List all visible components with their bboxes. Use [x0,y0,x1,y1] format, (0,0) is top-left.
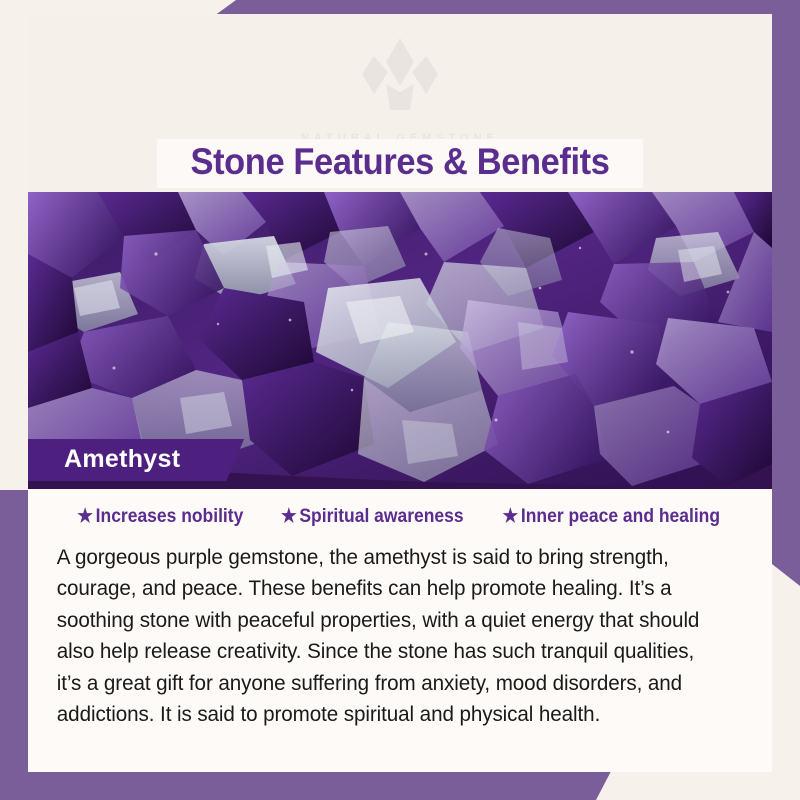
benefit-item-3: ★ Inner peace and healing [503,506,721,528]
right-purple-edge [772,0,800,586]
amethyst-crystal-cluster-photo: Amethyst [28,192,772,489]
benefits-row: ★ Increases nobility ★ Spiritual awarene… [28,489,772,530]
left-purple-edge [0,490,28,800]
benefit-label-1: Increases nobility [96,506,244,528]
crystal-logo-icon [340,32,460,124]
star-icon: ★ [77,507,93,526]
page-title: Stone Features & Benefits [174,143,626,182]
benefit-item-2: ★ Spiritual awareness [281,506,464,528]
benefit-label-2: Spiritual awareness [299,506,463,528]
star-icon: ★ [281,507,297,526]
content-card: NATURAL GEMSTONE Stone Features & Benefi… [28,14,772,772]
benefit-item-1: ★ Increases nobility [77,506,243,528]
star-icon: ★ [503,507,519,526]
description-text: A gorgeous purple gemstone, the amethyst… [28,530,742,730]
title-plate: Stone Features & Benefits [157,139,643,188]
header-zone: NATURAL GEMSTONE Stone Features & Benefi… [28,14,772,192]
stone-name-label: Amethyst [28,439,244,482]
watermark: NATURAL GEMSTONE [301,32,499,144]
benefit-label-3: Inner peace and healing [521,506,720,528]
infographic-page: NATURAL GEMSTONE Stone Features & Benefi… [0,0,800,800]
